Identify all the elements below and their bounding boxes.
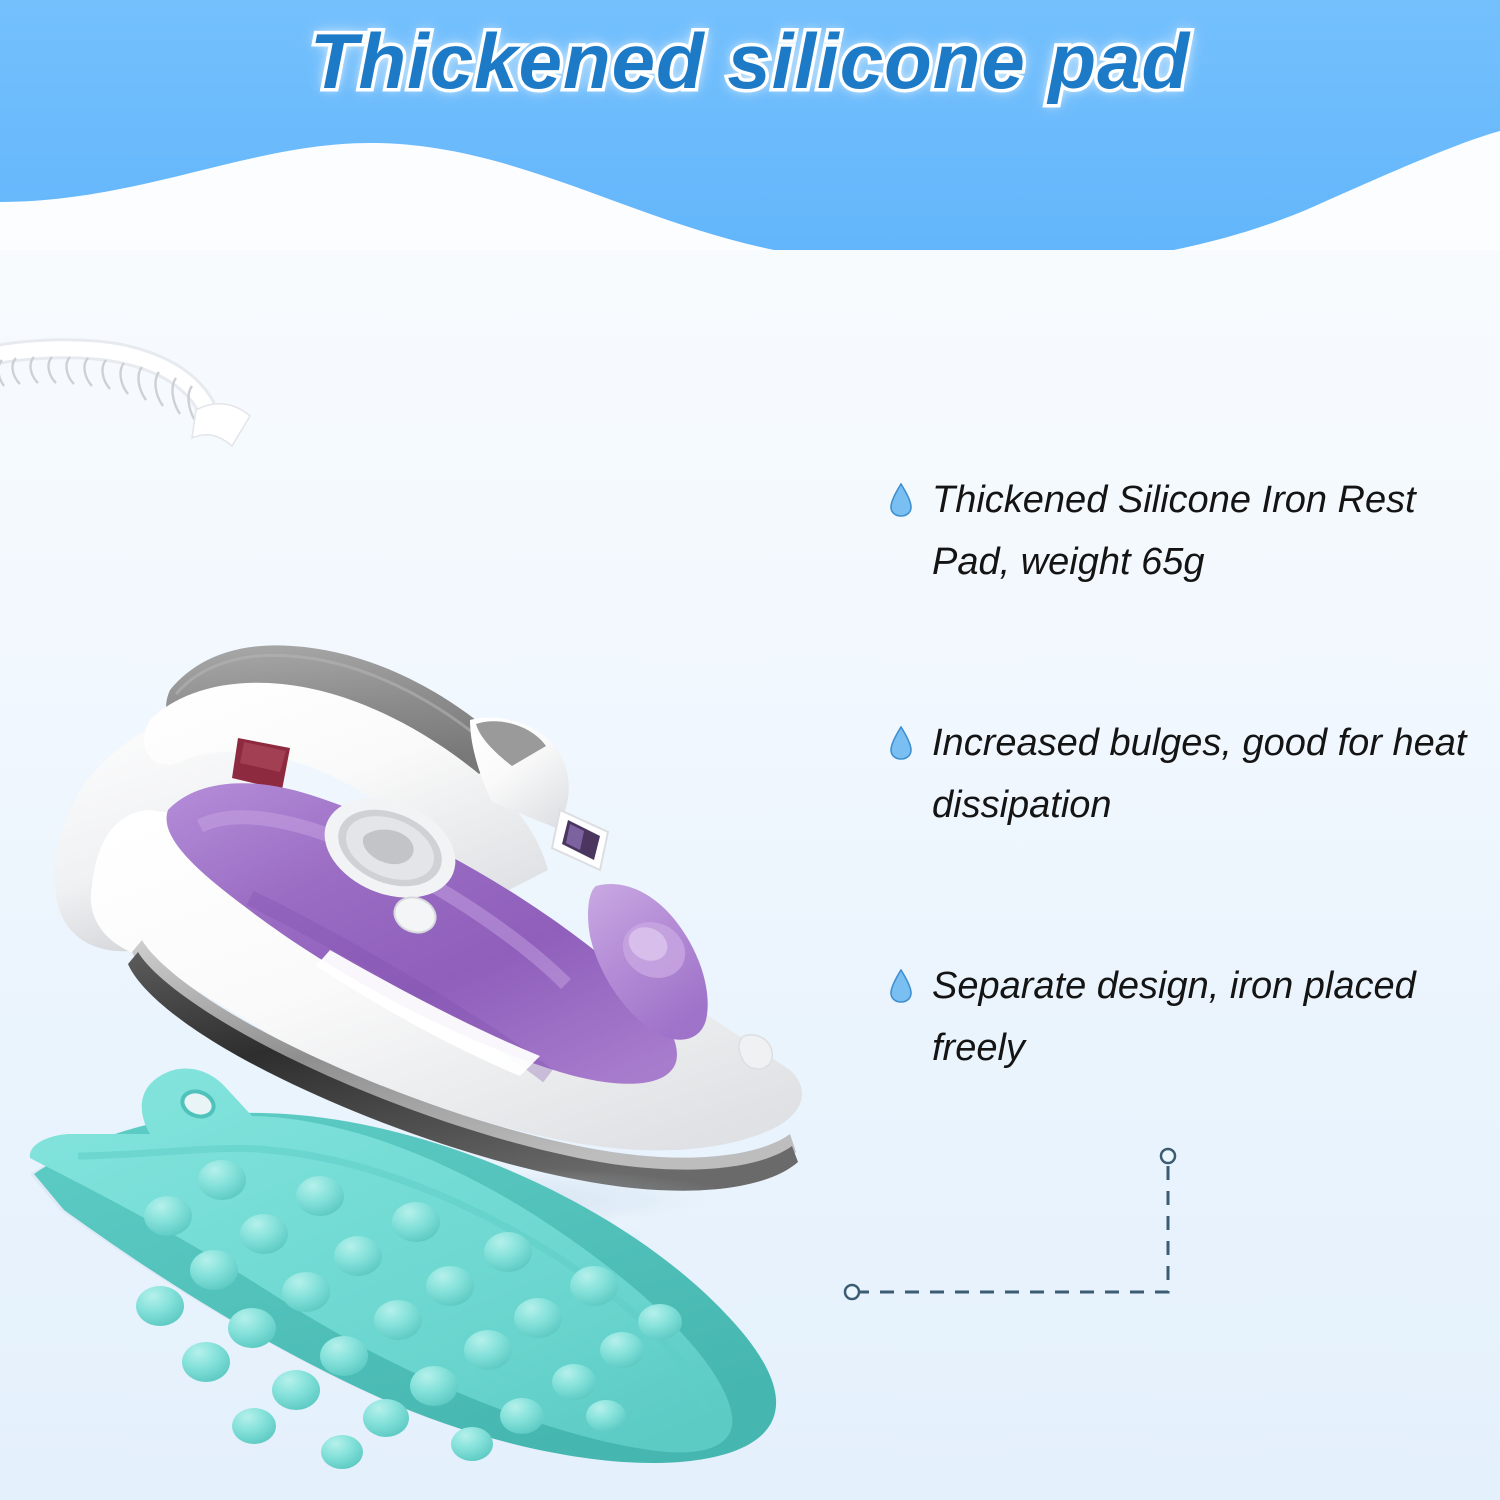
callout-endpoint-start	[845, 1285, 859, 1299]
steam-iron	[0, 349, 802, 1234]
cord-strain-relief	[192, 404, 250, 446]
dimension-callout	[830, 1120, 1210, 1330]
callout-graphic	[830, 1120, 1210, 1330]
callout-dashed-path	[855, 1160, 1168, 1292]
iron-drop-icon	[890, 969, 912, 1003]
feature-item: Thickened Silicone Iron Rest Pad, weight…	[890, 470, 1490, 593]
feature-text: Thickened Silicone Iron Rest Pad, weight…	[932, 470, 1472, 593]
page-title: Thickened silicone pad	[0, 16, 1500, 107]
feature-list: Thickened Silicone Iron Rest Pad, weight…	[890, 470, 1490, 1199]
feature-text: Separate design, iron placed freely	[932, 956, 1472, 1079]
iron-drop-icon	[890, 483, 912, 517]
iron-drop-icon	[890, 726, 912, 760]
infographic-page: Thickened silicone pad	[0, 0, 1500, 1500]
feature-text: Increased bulges, good for heat dissipat…	[932, 713, 1472, 836]
header-banner: Thickened silicone pad	[0, 0, 1500, 250]
callout-endpoint-end	[1161, 1149, 1175, 1163]
product-illustration	[0, 250, 880, 1500]
product-graphic	[0, 250, 880, 1500]
feature-item: Separate design, iron placed freely	[890, 956, 1490, 1079]
feature-item: Increased bulges, good for heat dissipat…	[890, 713, 1490, 836]
